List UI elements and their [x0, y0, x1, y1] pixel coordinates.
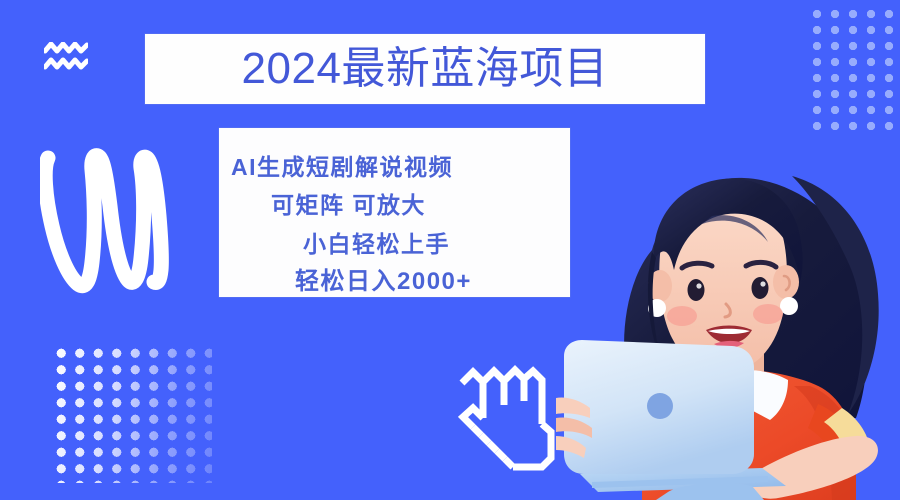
dot-grid-bottom-left	[52, 345, 212, 483]
promo-poster: 2024最新蓝海项目 AI生成短剧解说视频 可矩阵 可放大 小白轻松上手 轻松日…	[0, 0, 900, 500]
subtitle-line-3: 小白轻松上手	[303, 233, 450, 256]
woman-with-laptop-illustration	[556, 118, 900, 500]
subtitle-card: AI生成短剧解说视频 可矩阵 可放大 小白轻松上手 轻松日入2000+	[219, 128, 570, 297]
page-title: 2024最新蓝海项目	[242, 47, 609, 91]
laptop-logo-icon	[647, 393, 673, 419]
pixel-hand-pointer-icon	[455, 358, 567, 486]
title-card: 2024最新蓝海项目	[145, 34, 705, 104]
wave-zigzag-icon	[44, 42, 88, 76]
w-brushstroke-logo	[40, 134, 170, 300]
subtitle-line-1: AI生成短剧解说视频	[231, 156, 453, 179]
subtitle-line-4: 轻松日入2000+	[295, 270, 472, 294]
dot-grid-top-right	[808, 6, 896, 130]
subtitle-line-2: 可矩阵 可放大	[271, 194, 426, 217]
